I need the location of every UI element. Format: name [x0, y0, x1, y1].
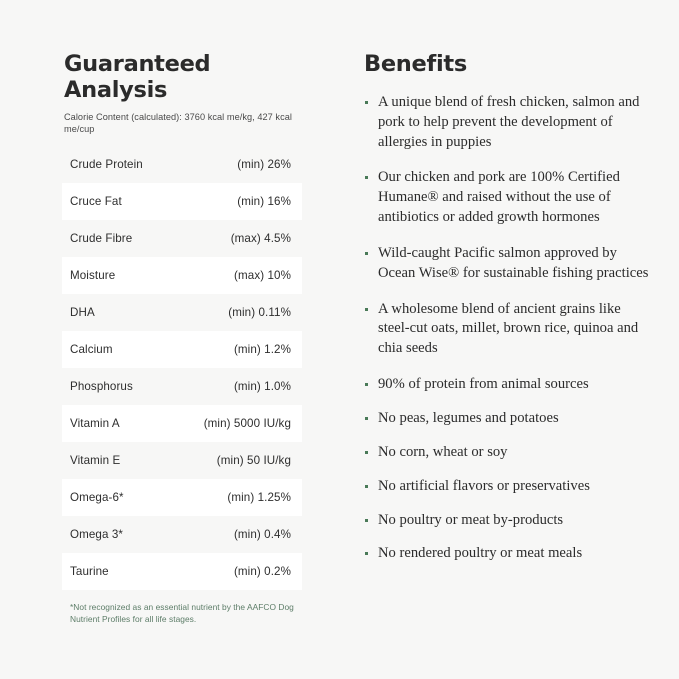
list-item-label: No artificial flavors or preservatives [378, 478, 590, 494]
guaranteed-analysis-table-body: Crude Protein (min) 26% Cruce Fat (min) … [62, 146, 302, 590]
benefits-list: A unique blend of fresh chicken, salmon … [364, 93, 654, 564]
table-row: Taurine (min) 0.2% [62, 553, 302, 590]
product-info-panel: Guaranteed Analysis Calorie Content (cal… [0, 0, 679, 679]
guaranteed-analysis-title: Guaranteed Analysis [64, 52, 310, 104]
list-item: Wild-caught Pacific salmon approved by O… [364, 244, 654, 284]
nutrient-name: Vitamin E [62, 442, 182, 479]
nutrient-name: Moisture [62, 257, 182, 294]
list-item-label: No peas, legumes and potatoes [378, 410, 559, 426]
list-item: No corn, wheat or soy [364, 443, 654, 463]
nutrient-name: Crude Protein [62, 146, 182, 183]
benefits-section: Benefits A unique blend of fresh chicken… [364, 52, 654, 578]
nutrient-value: (min) 1.25% [182, 479, 302, 516]
list-item-label: Wild-caught Pacific salmon approved by O… [378, 245, 648, 281]
nutrient-value: (min) 16% [182, 183, 302, 220]
calorie-content-subtitle: Calorie Content (calculated): 3760 kcal … [64, 111, 310, 136]
bullet-icon [365, 485, 368, 488]
bullet-icon [365, 451, 368, 454]
nutrient-name: Cruce Fat [62, 183, 182, 220]
nutrient-value: (min) 0.4% [182, 516, 302, 553]
table-row: Phosphorus (min) 1.0% [62, 368, 302, 405]
nutrient-name: Omega 3* [62, 516, 182, 553]
table-row: Moisture (max) 10% [62, 257, 302, 294]
nutrient-name: Phosphorus [62, 368, 182, 405]
nutrient-value: (max) 10% [182, 257, 302, 294]
guaranteed-analysis-section: Guaranteed Analysis Calorie Content (cal… [62, 52, 310, 626]
bullet-icon [365, 383, 368, 386]
bullet-icon [365, 176, 368, 179]
bullet-icon [365, 417, 368, 420]
list-item-label: A unique blend of fresh chicken, salmon … [378, 94, 639, 150]
list-item: A unique blend of fresh chicken, salmon … [364, 93, 654, 153]
nutrient-name: Omega-6* [62, 479, 182, 516]
guaranteed-analysis-table: Crude Protein (min) 26% Cruce Fat (min) … [62, 146, 302, 590]
aafco-footnote: *Not recognized as an essential nutrient… [70, 601, 305, 625]
nutrient-value: (min) 0.2% [182, 553, 302, 590]
list-item-label: No rendered poultry or meat meals [378, 545, 582, 561]
table-row: Vitamin A (min) 5000 IU/kg [62, 405, 302, 442]
bullet-icon [365, 552, 368, 555]
nutrient-value: (max) 4.5% [182, 220, 302, 257]
list-item: Our chicken and pork are 100% Certified … [364, 168, 654, 228]
nutrient-value: (min) 1.0% [182, 368, 302, 405]
nutrient-value: (min) 1.2% [182, 331, 302, 368]
bullet-icon [365, 252, 368, 255]
benefits-title: Benefits [364, 52, 654, 78]
list-item: No rendered poultry or meat meals [364, 544, 654, 564]
table-row: Crude Protein (min) 26% [62, 146, 302, 183]
table-row: Cruce Fat (min) 16% [62, 183, 302, 220]
list-item: A wholesome blend of ancient grains like… [364, 300, 654, 360]
nutrient-value: (min) 0.11% [182, 294, 302, 331]
table-row: DHA (min) 0.11% [62, 294, 302, 331]
list-item-label: A wholesome blend of ancient grains like… [378, 301, 638, 357]
nutrient-name: Crude Fibre [62, 220, 182, 257]
list-item: 90% of protein from animal sources [364, 375, 654, 395]
bullet-icon [365, 519, 368, 522]
list-item: No artificial flavors or preservatives [364, 477, 654, 497]
list-item-label: No corn, wheat or soy [378, 444, 508, 460]
list-item: No peas, legumes and potatoes [364, 409, 654, 429]
nutrient-value: (min) 26% [182, 146, 302, 183]
table-row: Vitamin E (min) 50 IU/kg [62, 442, 302, 479]
nutrient-name: Taurine [62, 553, 182, 590]
nutrient-value: (min) 50 IU/kg [182, 442, 302, 479]
nutrient-name: DHA [62, 294, 182, 331]
table-row: Omega-6* (min) 1.25% [62, 479, 302, 516]
list-item-label: No poultry or meat by-products [378, 512, 563, 528]
table-row: Omega 3* (min) 0.4% [62, 516, 302, 553]
nutrient-name: Vitamin A [62, 405, 182, 442]
list-item: No poultry or meat by-products [364, 511, 654, 531]
bullet-icon [365, 308, 368, 311]
table-row: Calcium (min) 1.2% [62, 331, 302, 368]
nutrient-value: (min) 5000 IU/kg [182, 405, 302, 442]
table-row: Crude Fibre (max) 4.5% [62, 220, 302, 257]
nutrient-name: Calcium [62, 331, 182, 368]
bullet-icon [365, 101, 368, 104]
list-item-label: 90% of protein from animal sources [378, 376, 589, 392]
list-item-label: Our chicken and pork are 100% Certified … [378, 169, 620, 225]
